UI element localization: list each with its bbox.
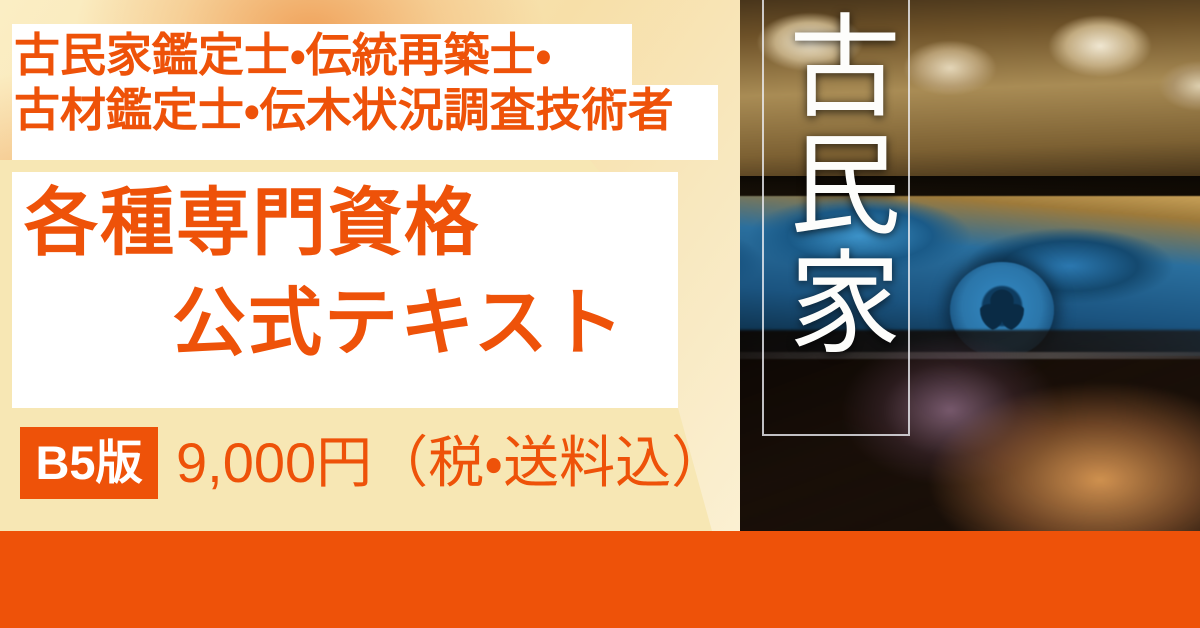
- headline-line-1: 古民家鑑定士・伝統再築士・: [14, 28, 714, 83]
- book-cover-title: 古民家: [776, 8, 896, 362]
- size-badge: B5版: [20, 427, 158, 499]
- promo-banner: 古民家 伝統構法 古民家活用のための調査と再生の 古民家鑑定士・伝統再築士・ 古…: [0, 0, 1200, 628]
- price-text: 9,000円（税・送料込）: [176, 429, 727, 497]
- subhead-line-2: 公式テキスト: [172, 286, 626, 360]
- headline-text: 古民家鑑定士・伝統再築士・ 古材鑑定士・伝木状況調査技術者: [14, 28, 714, 138]
- subhead-line-1: 各種専門資格: [24, 186, 480, 260]
- cta-bar[interactable]: 詳細・ご購入はこちら: [0, 531, 1200, 628]
- headline-line-2: 古材鑑定士・伝木状況調査技術者: [14, 83, 714, 138]
